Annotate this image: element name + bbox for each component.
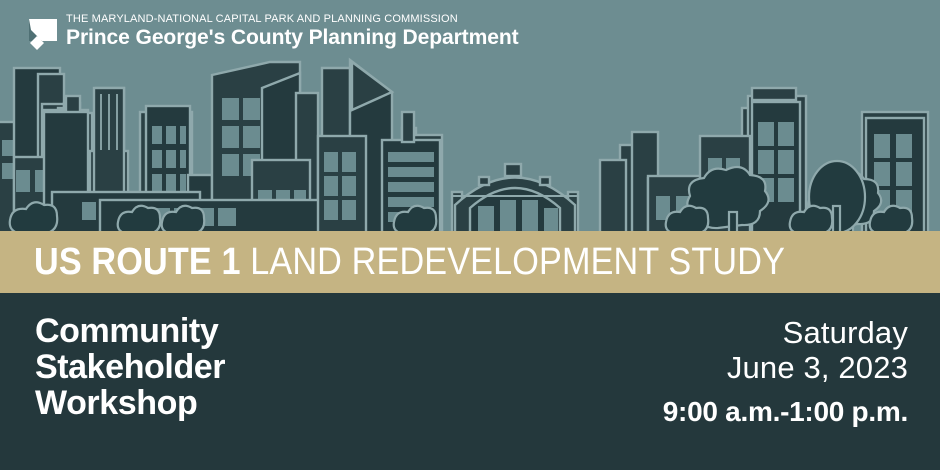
- event-title: Community Stakeholder Workshop: [35, 313, 225, 421]
- study-title: US ROUTE 1 LAND REDEVELOPMENT STUDY: [34, 243, 785, 281]
- event-day-of-week: Saturday: [663, 315, 908, 350]
- study-title-highlight: US ROUTE 1: [34, 241, 241, 283]
- agency-name: THE MARYLAND-NATIONAL CAPITAL PARK AND P…: [66, 14, 521, 25]
- event-flyer: .bld{fill:#2a4044;stroke:#8fa9ac;stroke-…: [0, 0, 940, 470]
- mncppc-arrow-logo-icon: [28, 17, 58, 53]
- event-date: June 3, 2023: [663, 350, 908, 385]
- event-title-line-1: Community: [35, 313, 225, 349]
- event-time-range: 9:00 a.m.-1:00 p.m.: [663, 396, 908, 428]
- event-title-line-2: Stakeholder: [35, 349, 225, 385]
- event-datetime: Saturday June 3, 2023 9:00 a.m.-1:00 p.m…: [663, 315, 908, 428]
- department-name: Prince George's County Planning Departme…: [66, 27, 519, 49]
- event-title-line-3: Workshop: [35, 385, 225, 421]
- study-title-remainder: LAND REDEVELOPMENT STUDY: [241, 241, 785, 283]
- organization-header: THE MARYLAND-NATIONAL CAPITAL PARK AND P…: [28, 14, 528, 53]
- study-title-banner: US ROUTE 1 LAND REDEVELOPMENT STUDY: [0, 231, 940, 293]
- event-details-panel: Community Stakeholder Workshop Saturday …: [0, 293, 940, 470]
